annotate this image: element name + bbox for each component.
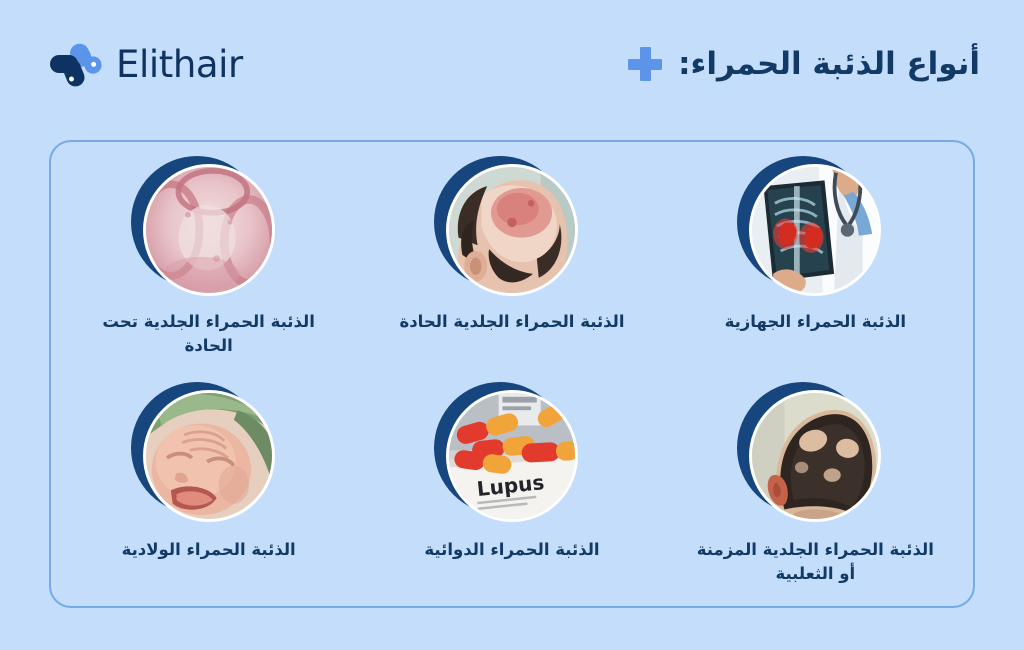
types-panel: الذئبة الحمراء الجلدية تحت الحادة <box>49 140 975 608</box>
photo-wrap <box>446 164 578 296</box>
photo-wrap <box>143 390 275 522</box>
types-grid: الذئبة الحمراء الجلدية تحت الحادة <box>51 142 973 606</box>
card-caption: الذئبة الحمراء الجهازية <box>725 310 907 334</box>
scalp-lesion-photo <box>446 164 578 296</box>
page-title: أنواع الذئبة الحمراء: <box>678 45 980 84</box>
card-caption: الذئبة الحمراء الجلدية المزمنة أو الثعلب… <box>690 538 940 586</box>
photo-wrap <box>749 164 881 296</box>
card-acute-cutaneous-lupus[interactable]: الذئبة الحمراء الجلدية الحادة <box>360 150 663 376</box>
card-caption: الذئبة الحمراء الدوائية <box>424 538 599 562</box>
card-subacute-cutaneous-lupus[interactable]: الذئبة الحمراء الجلدية تحت الحادة <box>57 150 360 376</box>
card-caption: الذئبة الحمراء الولادية <box>122 538 296 562</box>
patchy-hair-loss-photo <box>749 390 881 522</box>
card-neonatal-lupus[interactable]: الذئبة الحمراء الولادية <box>57 376 360 602</box>
photo-wrap <box>143 164 275 296</box>
lupus-pills-document-photo: Lupus <box>446 390 578 522</box>
brand-name: Elithair <box>116 43 243 86</box>
brand-logo: Elithair <box>48 37 243 91</box>
card-caption: الذئبة الحمراء الجلدية تحت الحادة <box>84 310 334 358</box>
skin-rash-closeup-photo <box>143 164 275 296</box>
photo-wrap <box>749 390 881 522</box>
doctor-xray-kidneys-photo <box>749 164 881 296</box>
card-caption: الذئبة الحمراء الجلدية الحادة <box>399 310 624 334</box>
card-chronic-discoid-lupus[interactable]: الذئبة الحمراء الجلدية المزمنة أو الثعلب… <box>664 376 967 602</box>
newborn-baby-photo <box>143 390 275 522</box>
card-drug-induced-lupus[interactable]: Lupus الذئبة الحمراء الدوائية <box>360 376 663 602</box>
card-systemic-lupus[interactable]: الذئبة الحمراء الجهازية <box>664 150 967 376</box>
plus-icon <box>628 47 662 81</box>
title-group: أنواع الذئبة الحمراء: <box>628 45 980 84</box>
elithair-logo-icon <box>48 37 102 91</box>
photo-wrap: Lupus <box>446 390 578 522</box>
header: Elithair أنواع الذئبة الحمراء: <box>0 0 1024 128</box>
